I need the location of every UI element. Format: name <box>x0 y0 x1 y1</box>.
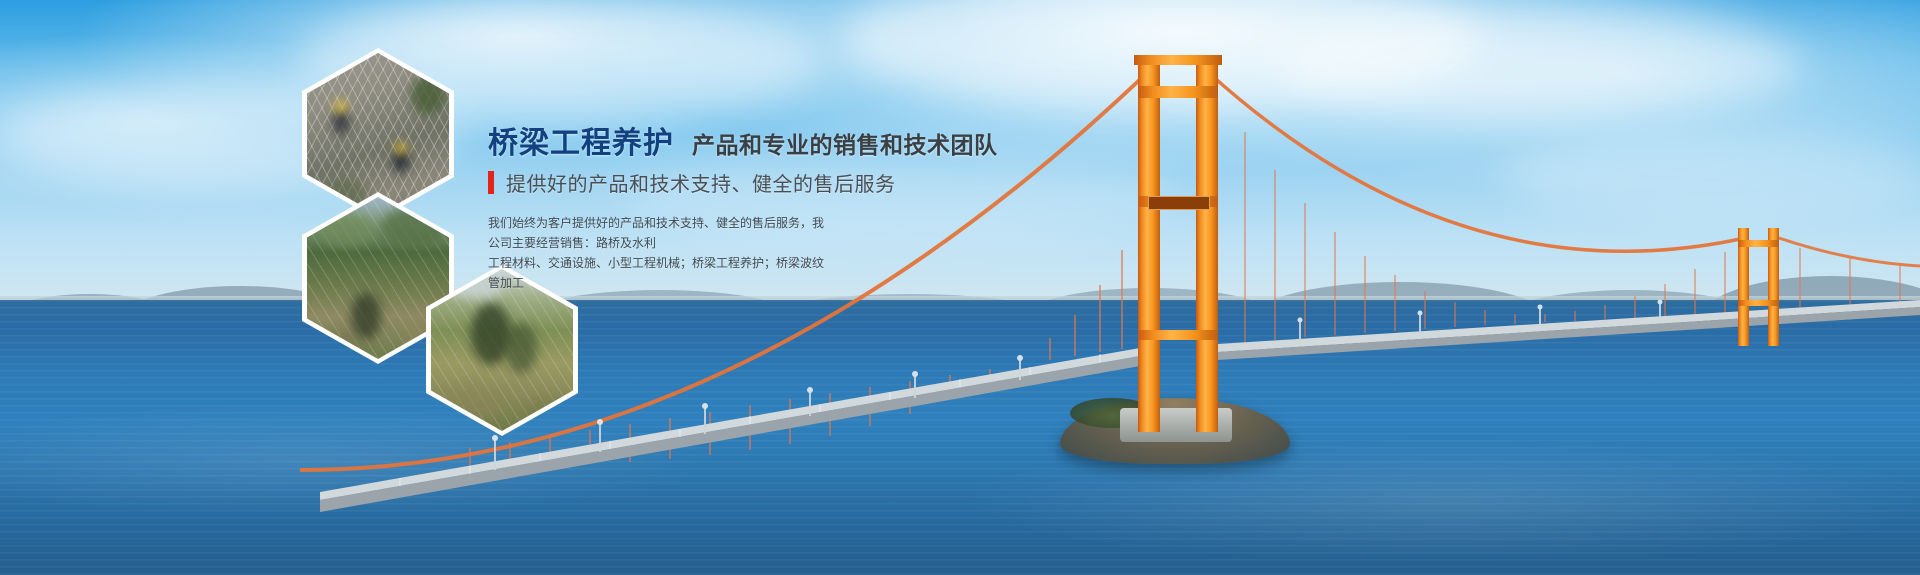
far-bridge-tower-crossbeam <box>1738 300 1779 306</box>
hero-banner: 桥梁工程养护 产品和专业的销售和技术团队 提供好的产品和技术支持、健全的售后服务… <box>0 0 1920 575</box>
headline-main-title: 桥梁工程养护 <box>488 118 674 162</box>
body-copy-line-1: 我们始终为客户提供好的产品和技术支持、健全的售后服务，我公司主要经营销售：路桥及… <box>488 213 833 253</box>
bridge-tower-plaque <box>1148 196 1210 210</box>
bridge-tower-crossbeam <box>1138 330 1218 340</box>
far-bridge-tower-crossbeam <box>1738 240 1779 247</box>
bridge-tower-crossbeam <box>1138 86 1218 98</box>
accent-bar-icon <box>488 171 494 194</box>
bridge-tower-leg-right <box>1196 60 1218 432</box>
banner-text-block: 桥梁工程养护 产品和专业的销售和技术团队 提供好的产品和技术支持、健全的售后服务… <box>488 118 1048 293</box>
body-copy: 我们始终为客户提供好的产品和技术支持、健全的售后服务，我公司主要经营销售：路桥及… <box>488 213 833 293</box>
body-copy-line-2: 工程材料、交通设施、小型工程机械；桥梁工程养护；桥梁波纹管加工 <box>488 253 833 293</box>
subtitle-row: 提供好的产品和技术支持、健全的售后服务 <box>488 168 1048 197</box>
bridge-tower-cap <box>1134 55 1222 65</box>
bridge-tower-leg-left <box>1138 60 1160 432</box>
subtitle-text: 提供好的产品和技术支持、健全的售后服务 <box>506 168 896 197</box>
headline-sub-title: 产品和专业的销售和技术团队 <box>692 126 998 160</box>
headline: 桥梁工程养护 产品和专业的销售和技术团队 <box>488 118 1048 162</box>
